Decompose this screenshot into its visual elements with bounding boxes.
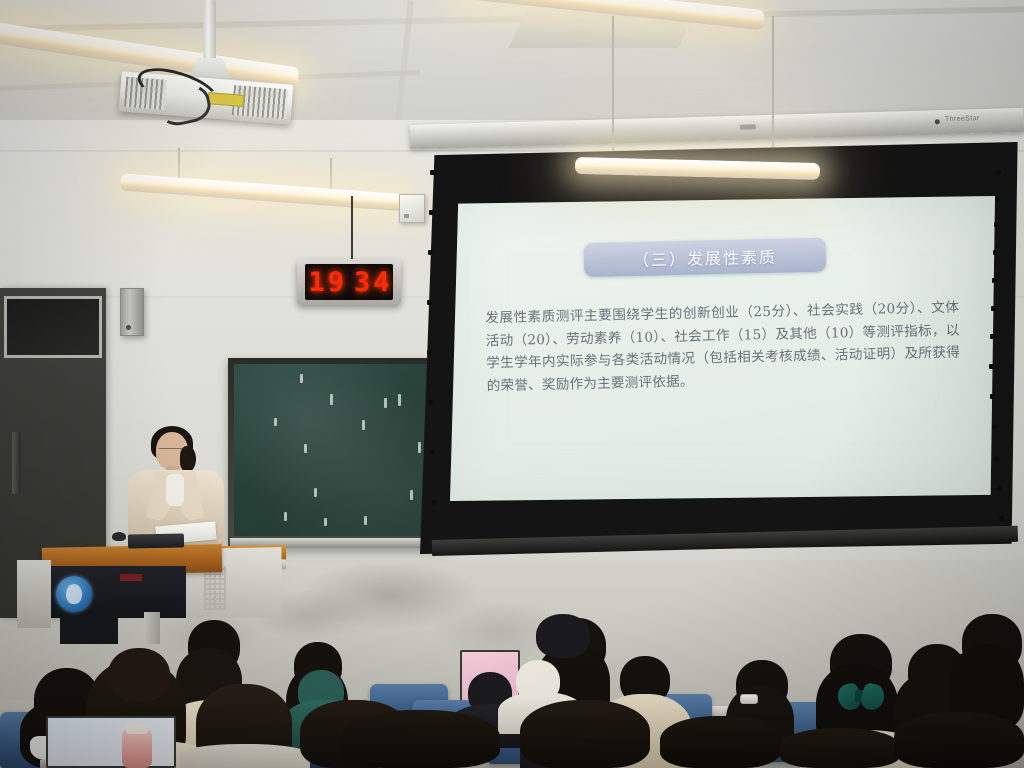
university-emblem-icon (56, 576, 92, 612)
projected-slide: （三）发展性素质 发展性素质测评主要围绕学生的创新创业（25分）、社会实践（20… (459, 202, 985, 496)
student-hair (894, 712, 1024, 768)
light-rod (772, 16, 774, 160)
door-handle[interactable] (12, 432, 21, 494)
slide-body-text: 发展性素质测评主要围绕学生的创新创业（25分）、社会实践（20分）、文体活动（2… (485, 297, 961, 398)
water-bottle[interactable] (122, 730, 152, 768)
student-head (108, 648, 170, 702)
podium-mouse[interactable] (112, 532, 126, 541)
clock-digit: 3 (354, 269, 370, 296)
light-rod (330, 158, 332, 190)
digital-clock: 1 9 3 4 (297, 259, 401, 305)
clock-digit: 1 (308, 269, 324, 296)
brand-dot-icon (935, 119, 940, 124)
presenter-inner-top (166, 474, 184, 506)
wall-speaker-mid (399, 194, 425, 223)
blackboard (228, 358, 450, 548)
classroom-photo: 1 9 3 4 ThreeStar (0, 0, 1024, 768)
ceiling-beam (0, 6, 1024, 32)
wall-speaker-left (120, 288, 144, 336)
student-hair (340, 710, 500, 768)
podium-keyboard[interactable] (128, 534, 184, 549)
clock-display: 1 9 3 4 (305, 264, 393, 300)
presenter-glasses (159, 448, 185, 455)
podium-base (60, 616, 118, 644)
hair-bow (838, 684, 884, 710)
light-rod (612, 16, 614, 156)
bottle-cap[interactable] (126, 724, 148, 734)
podium-side-panel (17, 560, 51, 628)
clock-digit: 9 (328, 269, 344, 296)
student-hair (520, 700, 650, 768)
podium-red-marking (120, 574, 142, 581)
hair-clip (740, 694, 758, 704)
clock-hanging-wire (351, 196, 353, 262)
blackboard-surface (234, 364, 444, 536)
slide-title-bar: （三）发展性素质 (584, 238, 827, 277)
door-window (4, 296, 102, 358)
projector-mount-pole (203, 0, 216, 62)
laptop-screen[interactable] (46, 716, 176, 768)
student-hair (660, 716, 780, 768)
student-head (536, 614, 590, 658)
slide-title: （三）发展性素质 (633, 244, 778, 271)
podium-support-post (144, 612, 160, 644)
screen-housing-knob (740, 124, 756, 129)
student-hair (780, 728, 900, 768)
clock-digit: 4 (373, 269, 389, 296)
screen-brand-label: ThreeStar (945, 115, 980, 123)
student-shoulders (180, 744, 310, 768)
podium-perforation-panel (204, 566, 226, 610)
